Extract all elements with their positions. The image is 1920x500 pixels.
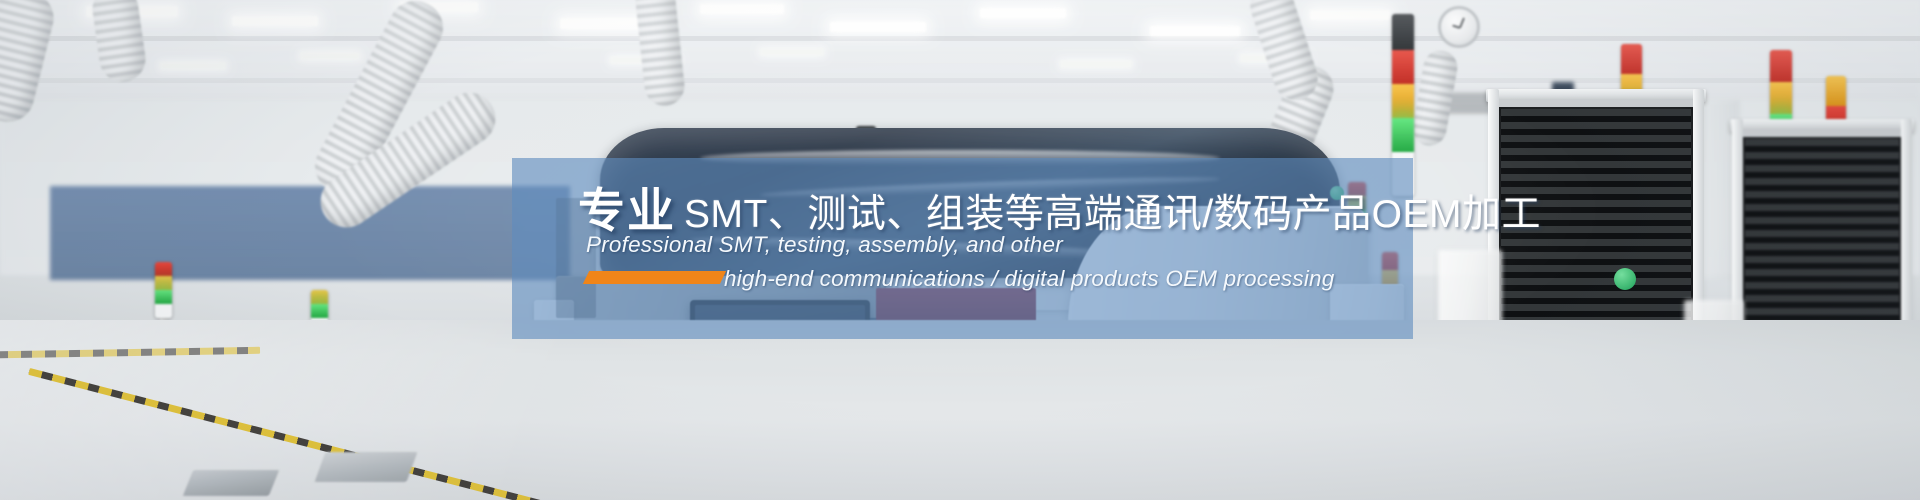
stack-light-amber xyxy=(1826,76,1846,106)
headline: 专业SMT、测试、组装等高端通讯/数码产品OEM加工 xyxy=(578,172,1541,241)
ceiling-light xyxy=(1150,26,1240,36)
text-overlay-panel: 专业SMT、测试、组装等高端通讯/数码产品OEM加工 Professional … xyxy=(512,158,1413,339)
rack-status-dot xyxy=(1614,268,1636,290)
stack-light-green xyxy=(155,290,172,304)
ceiling-light xyxy=(160,62,226,70)
subtitle-line-1: Professional SMT, testing, assembly, and… xyxy=(586,232,1063,258)
stack-light-base xyxy=(155,304,172,318)
overlay-content: 专业SMT、测试、组装等高端通讯/数码产品OEM加工 Professional … xyxy=(512,158,1413,339)
stack-light-red xyxy=(155,262,172,276)
stack-light xyxy=(155,262,172,318)
stack-light-amber xyxy=(311,290,328,304)
subtitle-line-2: high-end communications / digital produc… xyxy=(724,266,1334,292)
ceiling-light xyxy=(232,16,318,26)
stack-light-green xyxy=(1392,118,1414,152)
accent-bar xyxy=(583,271,726,284)
hero-banner: 专业SMT、测试、组装等高端通讯/数码产品OEM加工 Professional … xyxy=(0,0,1920,500)
floor-tray xyxy=(183,470,280,496)
ceiling-light xyxy=(760,48,824,56)
ceiling-light xyxy=(700,4,784,14)
ceiling-light xyxy=(300,52,360,60)
stack-light-amber xyxy=(155,276,172,290)
stack-light-off xyxy=(1392,14,1414,50)
floor-tray xyxy=(315,452,418,482)
ceiling-beam xyxy=(0,36,1920,41)
stack-light-red xyxy=(1621,44,1642,74)
ceiling-light xyxy=(1060,60,1132,68)
blue-wall-panel xyxy=(50,186,570,280)
ceiling-light xyxy=(1310,10,1390,20)
stack-light-red xyxy=(1770,50,1792,82)
stack-light-red xyxy=(1392,50,1414,84)
stack-light-green xyxy=(311,304,328,318)
ceiling-light xyxy=(830,22,926,32)
ceiling-light xyxy=(980,8,1066,18)
headline-emphasis: 专业 xyxy=(578,184,676,237)
stack-light-amber xyxy=(1392,84,1414,118)
stack-light-amber xyxy=(1770,82,1792,114)
wall-clock xyxy=(1438,6,1480,48)
headline-rest: SMT、测试、组装等高端通讯/数码产品OEM加工 xyxy=(684,193,1541,236)
